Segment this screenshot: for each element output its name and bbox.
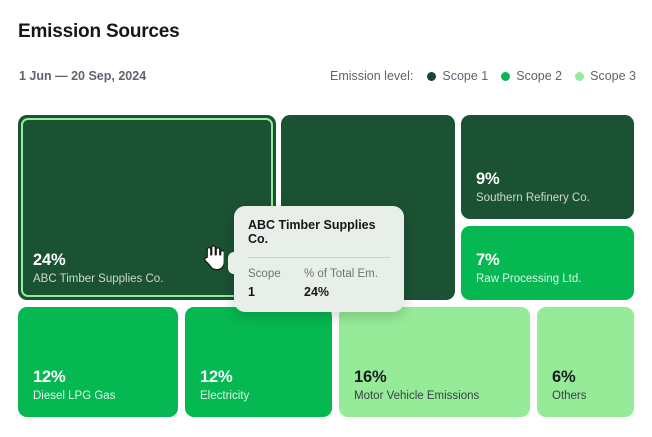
treemap-tile[interactable]: 7%Raw Processing Ltd. <box>461 226 634 300</box>
tile-percentage: 9% <box>476 170 634 189</box>
treemap-tile[interactable]: 6%Others <box>537 307 634 417</box>
tooltip-columns: Scope 1 % of Total Em. 24% <box>248 268 390 299</box>
tile-percentage: 12% <box>33 368 178 387</box>
tooltip-title: ABC Timber Supplies Co. <box>248 218 390 246</box>
tile-content: 16%Motor Vehicle Emissions <box>339 307 530 417</box>
treemap-tile[interactable]: 12%Electricity <box>185 307 332 417</box>
tile-percentage: 16% <box>354 368 530 387</box>
tile-label: Others <box>552 389 634 404</box>
tooltip-scope-header: Scope <box>248 268 304 280</box>
tile-content: 12%Electricity <box>185 307 332 417</box>
tile-label: Motor Vehicle Emissions <box>354 389 530 404</box>
tile-content: 7%Raw Processing Ltd. <box>461 226 634 300</box>
tooltip-divider <box>248 257 390 258</box>
mouse-cursor-pointer-hand-icon <box>202 245 224 276</box>
tooltip-scope-column: Scope 1 <box>248 268 304 299</box>
tile-percentage: 12% <box>200 368 332 387</box>
tile-content: 9%Southern Refinery Co. <box>461 115 634 219</box>
tile-label: Southern Refinery Co. <box>476 191 634 206</box>
tooltip-pct-header: % of Total Em. <box>304 268 378 280</box>
tile-label: Raw Processing Ltd. <box>476 272 634 287</box>
tooltip-pct-column: % of Total Em. 24% <box>304 268 378 299</box>
tile-percentage: 6% <box>552 368 634 387</box>
tile-content: 12%Diesel LPG Gas <box>18 307 178 417</box>
tile-label: Diesel LPG Gas <box>33 389 178 404</box>
tooltip: ABC Timber Supplies Co. Scope 1 % of Tot… <box>234 206 404 312</box>
tile-content: 6%Others <box>537 307 634 417</box>
treemap-tile[interactable]: 9%Southern Refinery Co. <box>461 115 634 219</box>
treemap-tile[interactable]: 12%Diesel LPG Gas <box>18 307 178 417</box>
treemap-tile[interactable]: 16%Motor Vehicle Emissions <box>339 307 530 417</box>
emission-sources-card: Emission Sources 1 Jun — 20 Sep, 2024 Em… <box>0 0 652 437</box>
tooltip-pct-value: 24% <box>304 285 378 299</box>
tile-label: Electricity <box>200 389 332 404</box>
tooltip-scope-value: 1 <box>248 285 304 299</box>
tile-percentage: 7% <box>476 251 634 270</box>
